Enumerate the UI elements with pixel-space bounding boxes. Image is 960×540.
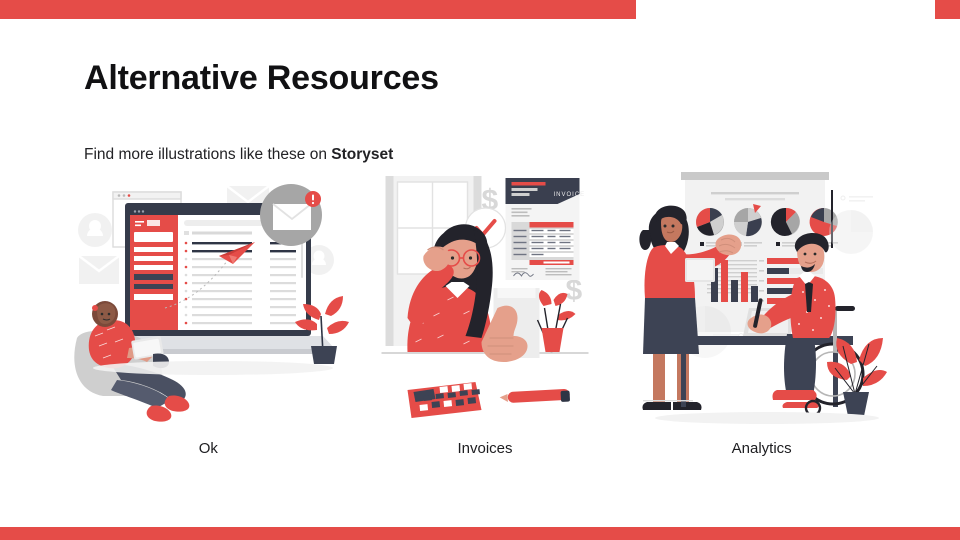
subtitle-text: Find more illustrations like these on	[84, 146, 331, 163]
top-bar-left-accent	[0, 0, 636, 19]
ok-illustration-svg	[73, 168, 343, 428]
floor-line	[643, 400, 693, 401]
envelope-notification	[260, 184, 322, 246]
mail-sidebar	[130, 215, 178, 330]
calculator	[408, 382, 482, 418]
illustration-card-ok[interactable]: Ok	[70, 168, 347, 468]
caption-analytics: Analytics	[623, 440, 900, 457]
caption-invoices: Invoices	[347, 440, 624, 457]
illustration-card-analytics[interactable]: Analytics	[623, 168, 900, 468]
bottom-bar-accent	[0, 527, 960, 540]
ground-shadow	[655, 412, 879, 424]
slide-canvas: Alternative Resources Find more illustra…	[0, 0, 960, 540]
invoice-title: INVOICE	[554, 192, 586, 198]
illustration-gallery: Ok $ $	[70, 168, 900, 468]
page-title: Alternative Resources	[84, 57, 439, 99]
storyset-brand[interactable]: Storyset	[331, 146, 393, 163]
ground-shadow	[93, 361, 333, 375]
analytics-illustration-svg	[637, 168, 887, 428]
illustration-analytics	[637, 168, 887, 428]
subtitle: Find more illustrations like these on St…	[84, 144, 393, 166]
caption-ok: Ok	[70, 440, 347, 457]
pencil	[500, 389, 571, 403]
invoices-illustration-svg: $ $ INVOICE	[378, 168, 593, 428]
illustration-invoices: $ $ INVOICE	[378, 168, 593, 428]
illustration-card-invoices[interactable]: $ $ INVOICE	[347, 168, 624, 468]
invoice-document: INVOICE	[506, 178, 586, 280]
top-bar-right-accent	[935, 0, 960, 19]
illustration-ok	[73, 168, 343, 428]
